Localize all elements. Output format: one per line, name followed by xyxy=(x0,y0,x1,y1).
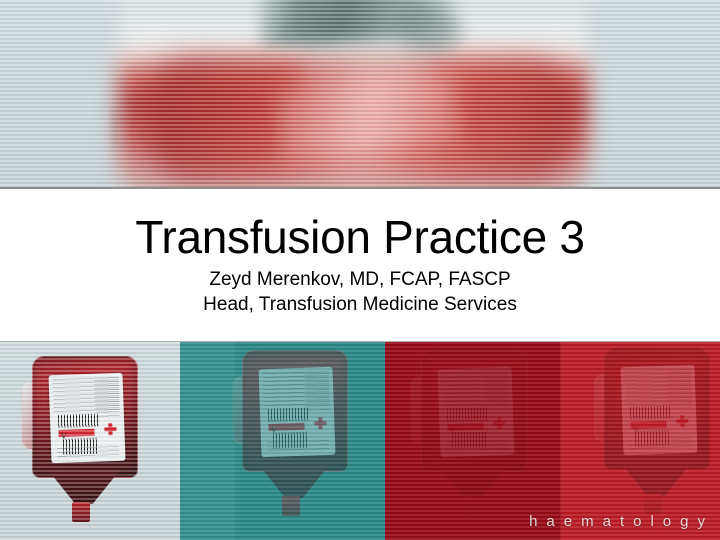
panel-blood-bag-natural: A xyxy=(0,342,180,540)
red-cross-icon xyxy=(104,423,116,435)
bag-label: A xyxy=(437,367,514,458)
barcode-icon xyxy=(447,408,487,422)
hero-image-blurred-blood-bag: haematology xyxy=(0,0,720,190)
title-block: Transfusion Practice 3 Zeyd Merenkov, MD… xyxy=(0,187,720,342)
panel-blood-bag-teal: A xyxy=(180,342,385,540)
label-text-block-right xyxy=(95,379,120,420)
red-cross-icon xyxy=(314,417,326,429)
blood-bag-graphic: A xyxy=(594,344,714,504)
brand-watermark: haematology xyxy=(529,513,714,530)
label-footer-lines xyxy=(57,446,119,460)
label-text-block-right xyxy=(667,371,692,412)
bag-spout xyxy=(72,502,90,522)
red-cross-icon xyxy=(676,415,688,427)
blood-bag-graphic: A xyxy=(411,346,531,506)
blood-bag-graphic: A xyxy=(22,352,142,512)
bag-spout xyxy=(282,496,300,516)
barcode-icon xyxy=(58,414,98,428)
footer-image-strip: A A xyxy=(0,342,720,540)
bag-label: A xyxy=(258,367,335,458)
panel-divider xyxy=(560,342,561,540)
bag-cone xyxy=(620,462,692,496)
teal-side-band xyxy=(180,342,235,540)
label-handwritten-group: A xyxy=(60,431,67,441)
panel-divider xyxy=(385,342,386,540)
bag-label: A xyxy=(620,365,697,456)
red-cross-icon xyxy=(493,417,505,429)
label-footer-lines xyxy=(267,440,329,454)
bag-spout xyxy=(644,494,662,514)
bag-cone xyxy=(258,464,330,498)
label-handwritten-group: A xyxy=(632,423,639,433)
panel-blood-bag-dark-red: A xyxy=(385,342,560,540)
blurred-blood-mass xyxy=(150,60,570,180)
label-handwritten-group: A xyxy=(449,425,456,435)
label-handwritten-group: A xyxy=(270,425,277,435)
label-footer-lines xyxy=(629,438,691,452)
label-text-block-right xyxy=(305,373,330,414)
barcode-icon xyxy=(268,408,308,422)
panel-blood-bag-red: A xyxy=(560,342,720,540)
presenter-role: Head, Transfusion Medicine Services xyxy=(203,292,517,317)
bag-spout xyxy=(461,496,479,516)
presentation-slide: haematology Transfusion Practice 3 Zeyd … xyxy=(0,0,720,540)
blood-bag-graphic: A xyxy=(232,346,352,506)
presenter-name: Zeyd Merenkov, MD, FCAP, FASCP xyxy=(209,267,510,292)
bag-label: A xyxy=(48,373,125,464)
label-text-block-right xyxy=(484,373,509,414)
page-title: Transfusion Practice 3 xyxy=(135,213,584,261)
barcode-icon xyxy=(630,406,670,420)
label-footer-lines xyxy=(446,440,508,454)
bag-cone xyxy=(437,464,509,498)
bag-cone xyxy=(48,470,120,504)
